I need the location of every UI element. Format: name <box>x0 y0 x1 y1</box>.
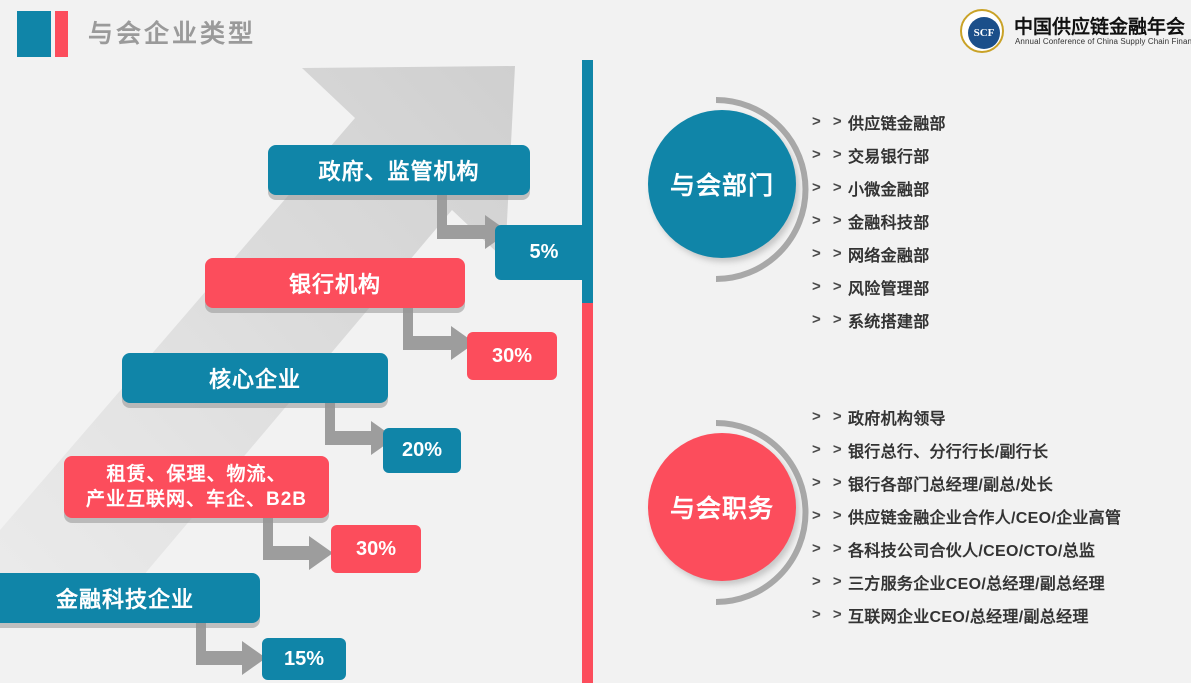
list-item: > > 各科技公司合伙人/CEO/CTO/总监 <box>812 532 1121 565</box>
scf-badge-icon: SCF <box>960 9 1004 53</box>
list-item-label: 网络金融部 <box>848 242 930 266</box>
chevron-double-right-icon: > > <box>812 146 848 163</box>
chevron-double-right-icon: > > <box>812 278 848 295</box>
list-item: > > 交易银行部 <box>812 138 946 171</box>
list-item: > > 互联网企业CEO/总经理/副总经理 <box>812 598 1121 631</box>
title-accent-red-bar <box>55 11 68 57</box>
chevron-double-right-icon: > > <box>812 573 848 590</box>
diagram-pct-label: 20% <box>402 439 442 462</box>
chevron-double-right-icon: > > <box>812 212 848 229</box>
diagram-node-core-enterprise: 核心企业 <box>122 353 388 403</box>
diagram-node-label-line1: 租赁、保理、物流、 <box>106 462 286 487</box>
diagram-pct-fintech: 15% <box>262 638 346 680</box>
list-item: > > 风险管理部 <box>812 270 946 303</box>
logo-name-cn: 中国供应链金融年会 <box>1014 12 1185 39</box>
diagram-node-label: 政府、监管机构 <box>318 154 479 186</box>
list-item-label: 交易银行部 <box>848 143 930 167</box>
list-item: > > 系统搭建部 <box>812 303 946 336</box>
list-item-label: 互联网企业CEO/总经理/副总经理 <box>848 603 1089 627</box>
diagram-node-government: 政府、监管机构 <box>268 145 530 195</box>
diagram-node-leasing-factoring: 租赁、保理、物流、 产业互联网、车企、B2B <box>64 456 329 518</box>
list-item: > > 政府机构领导 <box>812 400 1121 433</box>
divider-red-segment <box>582 303 593 683</box>
diagram-node-label: 金融科技企业 <box>56 582 194 614</box>
list-item-label: 三方服务企业CEO/总经理/副总经理 <box>848 570 1105 594</box>
diagram-pct-label: 5% <box>530 241 559 264</box>
chevron-double-right-icon: > > <box>812 245 848 262</box>
list-item-label: 金融科技部 <box>848 209 930 233</box>
list-item: > > 三方服务企业CEO/总经理/副总经理 <box>812 565 1121 598</box>
list-item: > > 银行各部门总经理/副总/处长 <box>812 466 1121 499</box>
list-item-label: 银行各部门总经理/副总/处长 <box>848 471 1053 495</box>
positions-circle-group: 与会职务 <box>638 415 828 610</box>
positions-circle-label: 与会职务 <box>648 433 796 581</box>
list-item: > > 网络金融部 <box>812 237 946 270</box>
chevron-double-right-icon: > > <box>812 113 848 130</box>
scf-badge-label: SCF <box>968 17 1000 49</box>
diagram-pct-label: 30% <box>492 345 532 368</box>
positions-circle-text: 与会职务 <box>670 489 774 525</box>
list-item: > > 金融科技部 <box>812 204 946 237</box>
diagram-pct-government: 5% <box>495 225 593 280</box>
diagram-node-label: 核心企业 <box>209 362 301 394</box>
list-item: > > 供应链金融企业合作人/CEO/企业高管 <box>812 499 1121 532</box>
diagram-node-label: 银行机构 <box>289 267 381 299</box>
chevron-double-right-icon: > > <box>812 441 848 458</box>
diagram-node-fintech: 金融科技企业 <box>0 573 260 623</box>
departments-list: > > 供应链金融部 > > 交易银行部 > > 小微金融部 > > 金融科技部… <box>812 105 946 336</box>
diagram-pct-bank: 30% <box>467 332 557 380</box>
list-item-label: 风险管理部 <box>848 275 930 299</box>
positions-list: > > 政府机构领导 > > 银行总行、分行行长/副行长 > > 银行各部门总经… <box>812 400 1121 631</box>
company-type-diagram: 政府、监管机构 5% 银行机构 30% 核心企业 20% 租赁、保理、物流、 产… <box>0 60 582 683</box>
list-item: > > 银行总行、分行行长/副行长 <box>812 433 1121 466</box>
diagram-pct-label: 30% <box>356 538 396 561</box>
list-item-label: 供应链金融部 <box>848 110 946 134</box>
chevron-double-right-icon: > > <box>812 179 848 196</box>
chevron-double-right-icon: > > <box>812 507 848 524</box>
departments-circle-label: 与会部门 <box>648 110 796 258</box>
title-accent-teal-block <box>17 11 51 57</box>
diagram-pct-label: 15% <box>284 648 324 671</box>
list-item-label: 小微金融部 <box>848 176 930 200</box>
chevron-double-right-icon: > > <box>812 408 848 425</box>
conference-logo: SCF 中国供应链金融年会 Annual Conference of China… <box>960 8 1185 54</box>
list-item-label: 银行总行、分行行长/副行长 <box>848 438 1048 462</box>
diagram-node-label-line2: 产业互联网、车企、B2B <box>86 487 307 512</box>
list-item: > > 小微金融部 <box>812 171 946 204</box>
page-title: 与会企业类型 <box>88 16 256 52</box>
departments-circle-group: 与会部门 <box>638 92 828 287</box>
list-item-label: 政府机构领导 <box>848 405 946 429</box>
chevron-double-right-icon: > > <box>812 474 848 491</box>
connector-arrow-4 <box>263 518 341 576</box>
chevron-double-right-icon: > > <box>812 311 848 328</box>
list-item-label: 各科技公司合伙人/CEO/CTO/总监 <box>848 537 1095 561</box>
diagram-node-bank: 银行机构 <box>205 258 465 308</box>
list-item-label: 供应链金融企业合作人/CEO/企业高管 <box>848 504 1121 528</box>
scf-badge-globe-icon: SCF <box>968 17 1000 49</box>
diagram-pct-core-enterprise: 20% <box>383 428 461 473</box>
list-item-label: 系统搭建部 <box>848 308 930 332</box>
list-item: > > 供应链金融部 <box>812 105 946 138</box>
departments-circle-text: 与会部门 <box>670 166 774 202</box>
diagram-pct-leasing-factoring: 30% <box>331 525 421 573</box>
logo-name-en: Annual Conference of China Supply Chain … <box>1015 37 1191 46</box>
chevron-double-right-icon: > > <box>812 606 848 623</box>
attendee-info-panel: 与会部门 > > 供应链金融部 > > 交易银行部 > > 小微金融部 > > … <box>600 60 1191 683</box>
chevron-double-right-icon: > > <box>812 540 848 557</box>
